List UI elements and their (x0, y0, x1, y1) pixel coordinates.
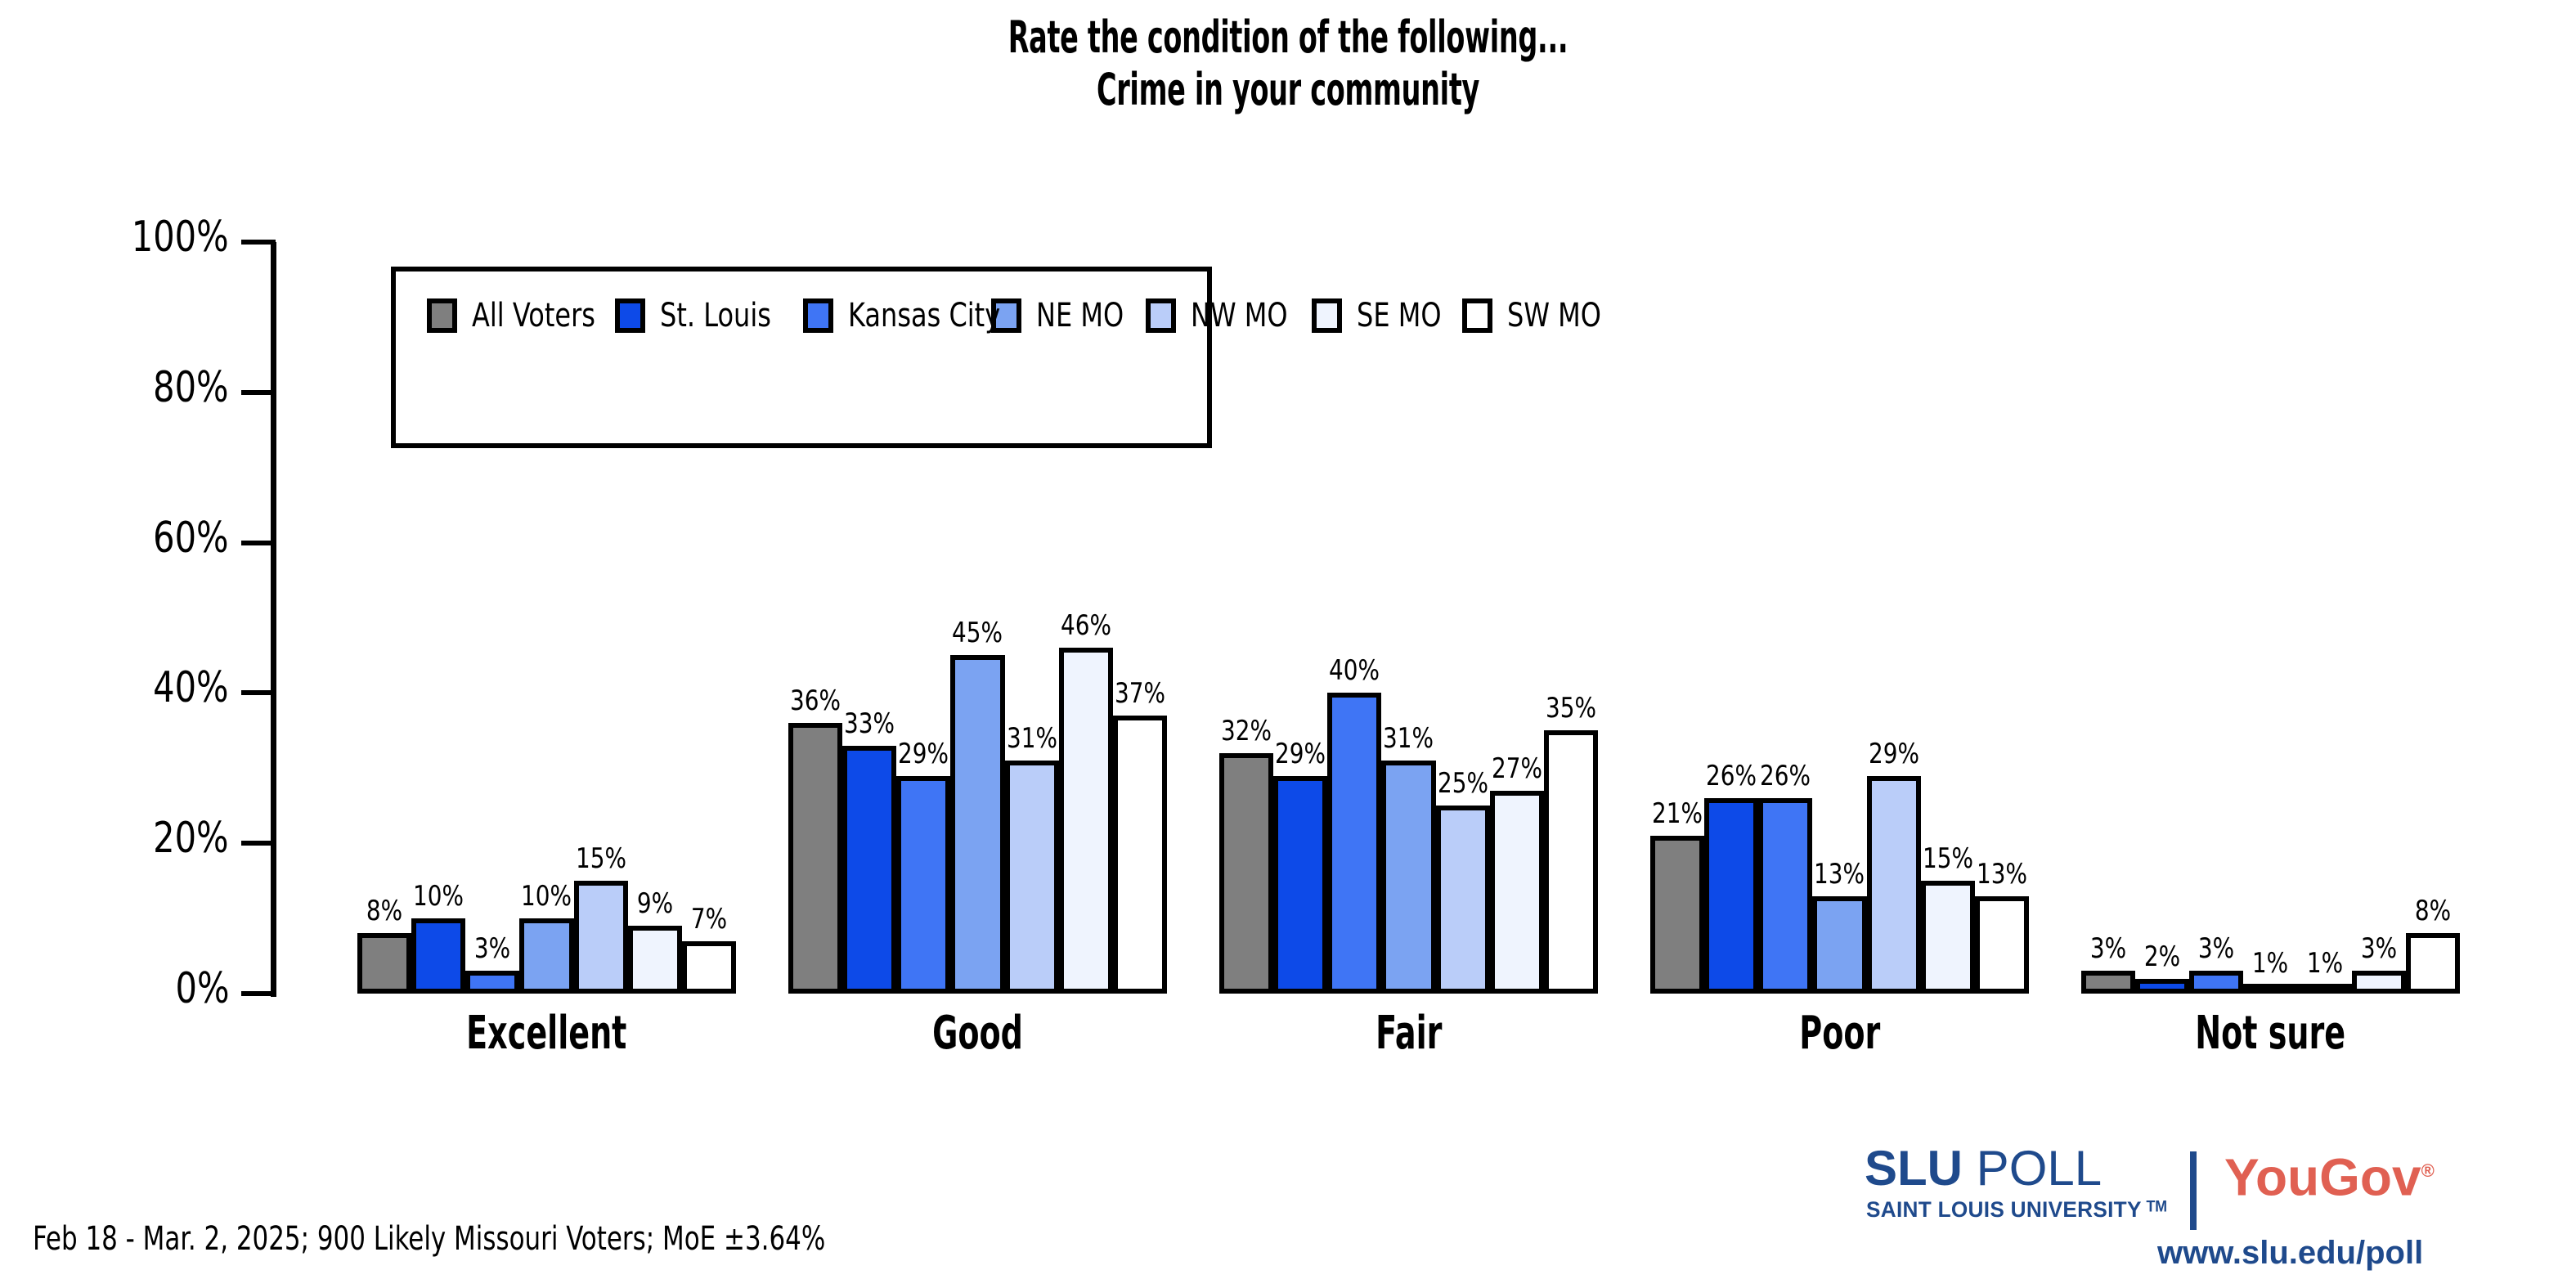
bar-value-label: 1% (2249, 949, 2293, 977)
bar[interactable]: 46% (1059, 574, 1113, 994)
bar[interactable]: 40% (1327, 619, 1381, 994)
bar-value-label: 10% (516, 882, 578, 910)
y-axis-tick-label: 80% (0, 363, 229, 412)
chart-root: Rate the condition of the following... C… (0, 0, 2576, 1288)
bar-rect[interactable] (2406, 933, 2460, 994)
y-axis-tick-label: 0% (0, 964, 229, 1013)
bar-value-label: 26% (1700, 762, 1762, 790)
bar[interactable]: 26% (1758, 725, 1812, 994)
slu-subtitle: SAINT LOUIS UNIVERSITY ᵀᴹ (1866, 1197, 2167, 1223)
bar-rect[interactable] (842, 746, 896, 994)
bar[interactable]: 7% (682, 868, 736, 994)
legend-item-all-voters[interactable]: All Voters (427, 293, 615, 339)
bar-rect[interactable] (1005, 761, 1059, 994)
y-axis-tick (241, 841, 276, 846)
bar-rect[interactable] (682, 941, 736, 994)
bar-value-label: 1% (2303, 949, 2347, 977)
bar[interactable]: 13% (1812, 823, 1866, 994)
bar-value-label: 3% (2086, 935, 2130, 963)
bar[interactable]: 15% (574, 807, 628, 994)
bar-value-label: 2% (2140, 943, 2184, 971)
bar[interactable]: 31% (1005, 687, 1059, 994)
bar-rect[interactable] (628, 926, 682, 994)
y-axis-tick-label: 40% (0, 663, 229, 712)
bar-rect[interactable] (1059, 648, 1113, 994)
legend-label: SW MO (1507, 297, 1601, 334)
bar[interactable]: 3% (2189, 897, 2243, 994)
y-axis-tick-label: 60% (0, 514, 229, 563)
bar-rect[interactable] (465, 971, 519, 994)
bar-value-label: 8% (2411, 897, 2455, 925)
y-axis-tick-label: 100% (0, 213, 229, 262)
bar[interactable]: 15% (1921, 807, 1975, 994)
bar-rect[interactable] (1704, 798, 1758, 994)
y-axis-tick (241, 690, 276, 695)
x-axis-label-fair: Fair (1219, 1009, 1598, 1058)
bar-value-label: 13% (1809, 860, 1871, 888)
y-axis-tick (241, 240, 276, 245)
bar-value-label: 31% (1001, 725, 1063, 752)
legend-label: All Voters (472, 297, 595, 334)
bar-value-label: 45% (947, 619, 1009, 647)
bar[interactable]: 2% (2135, 905, 2189, 994)
bar[interactable]: 21% (1650, 762, 1704, 994)
y-axis-tick (241, 541, 276, 545)
bar-rect[interactable] (1544, 730, 1598, 994)
slu-poll-wordmark: SLU POLL (1865, 1143, 2102, 1194)
bar-value-label: 36% (784, 687, 846, 715)
bar[interactable]: 33% (842, 672, 896, 994)
bar[interactable]: 3% (465, 897, 519, 994)
legend-label: Kansas City (848, 297, 1000, 334)
x-axis-label-poor: Poor (1650, 1009, 2029, 1058)
footnote: Feb 18 - Mar. 2, 2025; 900 Likely Missou… (33, 1220, 825, 1258)
bar-rect[interactable] (1113, 716, 1167, 994)
x-axis-label-excellent: Excellent (357, 1009, 736, 1058)
bar[interactable]: 8% (357, 859, 411, 994)
bar-value-label: 40% (1324, 657, 1386, 684)
bar[interactable]: 9% (628, 852, 682, 994)
bar[interactable]: 10% (519, 845, 573, 994)
slu-poll-url[interactable]: www.slu.edu/poll (2157, 1235, 2423, 1272)
bar-rect[interactable] (1812, 896, 1866, 994)
bar-value-label: 31% (1378, 725, 1440, 752)
legend-item-ne-mo[interactable]: NE MO (991, 293, 1146, 339)
legend-item-nw-mo[interactable]: NW MO (1146, 293, 1312, 339)
y-axis-tick-label: 20% (0, 814, 229, 863)
y-axis-tick (241, 390, 276, 395)
bar[interactable]: 13% (1975, 823, 2029, 994)
bar[interactable]: 3% (2081, 897, 2135, 994)
bar-value-label: 25% (1432, 770, 1494, 797)
bar-value-label: 27% (1486, 755, 1548, 783)
bar[interactable]: 29% (1867, 702, 1921, 994)
legend-label: SE MO (1357, 297, 1442, 334)
bar-value-label: 7% (687, 905, 731, 933)
legend-label: St. Louis (660, 297, 771, 334)
legend-color-swatch (1462, 298, 1492, 333)
bar[interactable]: 1% (2298, 912, 2352, 994)
bar[interactable]: 32% (1219, 680, 1273, 994)
bar-rect[interactable] (519, 918, 573, 994)
y-axis-tick (241, 991, 276, 996)
bar-rect[interactable] (1436, 806, 1490, 994)
bar[interactable]: 27% (1490, 717, 1544, 994)
bar[interactable]: 29% (1273, 702, 1327, 994)
bar-rect[interactable] (411, 918, 465, 994)
legend-label: NE MO (1036, 297, 1124, 334)
bar-value-label: 3% (470, 935, 514, 963)
yougov-text: YouGov (2224, 1147, 2421, 1206)
bar-rect[interactable] (2298, 984, 2352, 994)
bar-value-label: 32% (1215, 717, 1277, 745)
bar-rect[interactable] (2243, 984, 2297, 994)
bar-rect[interactable] (357, 933, 411, 994)
bar-rect[interactable] (1867, 776, 1921, 994)
logo-divider (2190, 1151, 2197, 1230)
bar-rect[interactable] (950, 655, 1004, 994)
plot-area: 0%20%40%60%80%100% 8%10%3%10%15%9%7%36%3… (0, 0, 2576, 1288)
legend-color-swatch (803, 298, 833, 333)
legend: All VotersSt. LouisKansas CityNE MONW MO… (391, 267, 1212, 448)
bar[interactable]: 25% (1436, 732, 1490, 994)
bar-value-label: 35% (1540, 694, 1602, 722)
bar-rect[interactable] (1219, 753, 1273, 994)
bar-value-label: 29% (893, 740, 955, 768)
bar-value-label: 3% (2194, 935, 2238, 963)
bar-value-label: 21% (1646, 800, 1708, 828)
legend-items: All VotersSt. LouisKansas CityNE MONW MO… (427, 293, 1625, 339)
bar-rect[interactable] (2135, 979, 2189, 994)
bar[interactable]: 10% (411, 845, 465, 994)
bar-rect[interactable] (1650, 836, 1704, 994)
bar[interactable]: 36% (788, 649, 842, 994)
legend-label: NW MO (1191, 297, 1288, 334)
bar-rect[interactable] (1758, 798, 1812, 994)
bar[interactable]: 35% (1544, 657, 1598, 994)
legend-color-swatch (615, 298, 645, 333)
bar-value-label: 8% (362, 897, 406, 925)
bar-value-label: 46% (1055, 612, 1117, 640)
legend-color-swatch (1146, 298, 1176, 333)
legend-item-se-mo[interactable]: SE MO (1312, 293, 1462, 339)
bar-rect[interactable] (896, 776, 950, 994)
bar-value-label: 33% (838, 710, 900, 738)
bar-value-label: 15% (570, 845, 632, 873)
bar-rect[interactable] (1273, 776, 1327, 994)
bar-rect[interactable] (2081, 971, 2135, 994)
bar-value-label: 9% (633, 890, 677, 918)
legend-item-st-louis[interactable]: St. Louis (615, 293, 803, 339)
legend-color-swatch (427, 298, 457, 333)
bar-rect[interactable] (2189, 971, 2243, 994)
bar-value-label: 26% (1755, 762, 1817, 790)
bar-value-label: 3% (2357, 935, 2401, 963)
registered-trademark-icon: ® (2421, 1160, 2435, 1181)
bar-rect[interactable] (1327, 693, 1381, 994)
bar-rect[interactable] (1921, 881, 1975, 994)
legend-color-swatch (1312, 298, 1342, 333)
x-axis-label-not-sure: Not sure (2081, 1009, 2460, 1058)
poll-text: POLL (1963, 1141, 2102, 1196)
bar-rect[interactable] (2352, 971, 2406, 994)
legend-item-sw-mo[interactable]: SW MO (1462, 293, 1625, 339)
x-axis-label-good: Good (788, 1009, 1167, 1058)
bar[interactable]: 26% (1704, 725, 1758, 994)
bar[interactable]: 3% (2352, 897, 2406, 994)
yougov-wordmark: YouGov® (2224, 1145, 2435, 1203)
bar-rect[interactable] (574, 881, 628, 994)
slu-bold-text: SLU (1865, 1141, 1963, 1196)
logo-block: SLU POLL SAINT LOUIS UNIVERSITY ᵀᴹ YouGo… (1865, 1143, 2519, 1286)
bar-rect[interactable] (1975, 896, 2029, 994)
bar-rect[interactable] (788, 723, 842, 994)
bar-value-label: 13% (1971, 860, 2033, 888)
bar-value-label: 29% (1863, 740, 1925, 768)
bar[interactable]: 31% (1381, 687, 1435, 994)
y-axis-line (271, 242, 276, 997)
legend-item-kansas-city[interactable]: Kansas City (803, 293, 991, 339)
bar[interactable]: 1% (2243, 912, 2297, 994)
bar-rect[interactable] (1490, 791, 1544, 994)
bar-rect[interactable] (1381, 761, 1435, 994)
bar[interactable]: 45% (950, 581, 1004, 994)
bar-value-label: 29% (1269, 740, 1331, 768)
bar-value-label: 37% (1109, 680, 1171, 707)
bar-value-label: 15% (1917, 845, 1979, 873)
bar[interactable]: 37% (1113, 642, 1167, 994)
bar[interactable]: 29% (896, 702, 950, 994)
bar[interactable]: 8% (2406, 859, 2460, 994)
bar-value-label: 10% (407, 882, 469, 910)
